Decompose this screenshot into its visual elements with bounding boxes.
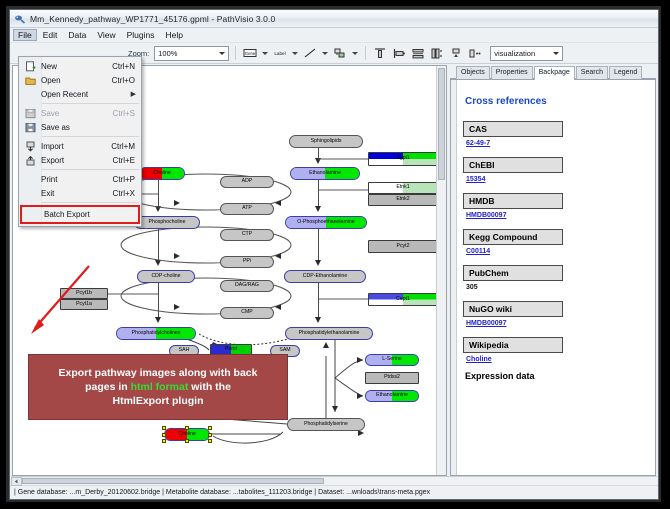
pathway-node-ophosphoethanolamine[interactable]: O-Phosphoethanolamine [285, 216, 367, 229]
pathway-node-etnk2[interactable]: Etnk2 [368, 194, 438, 206]
pathway-node-label: Ethanolamine [309, 171, 341, 176]
horizontal-scrollbar[interactable] [11, 476, 657, 485]
file-menu-item-export[interactable]: ExportCtrl+E [19, 153, 141, 167]
align-top-icon[interactable] [372, 45, 388, 61]
pathway-node-phosphatidylethanolamine[interactable]: Phosphatidylethanolamine [285, 327, 373, 340]
selection-handle[interactable] [185, 426, 189, 430]
common-width-icon[interactable] [429, 45, 445, 61]
expression-data-heading: Expression data [465, 371, 646, 381]
canvas-vscroll-thumb[interactable] [438, 68, 445, 180]
pathway-node-l-serine[interactable]: L-Serine [365, 354, 419, 366]
arrow-icon [357, 393, 363, 399]
pathway-node-etnk1[interactable]: Etnk1 [368, 182, 438, 194]
pathway-node-cdp-ethanolamine[interactable]: CDP-Ethanolamine [284, 270, 366, 283]
hscroll-thumb[interactable] [22, 478, 324, 484]
selection-handle[interactable] [208, 433, 212, 437]
selection-handle[interactable] [208, 439, 212, 443]
pathway-node-label: SAM [279, 348, 290, 353]
arrow-icon [323, 342, 329, 348]
xref-entry: WikipediaCholine [463, 335, 646, 363]
file-menu-item-shortcut: Ctrl+E [113, 156, 141, 165]
callout-highlight: html format [131, 381, 189, 393]
xref-entry: NuGO wikiHMDB00097 [463, 299, 646, 327]
file-menu-item-open-recent[interactable]: Open Recent▶ [19, 87, 141, 101]
svg-text:Gene: Gene [245, 51, 256, 56]
xref-value: Choline [466, 356, 646, 363]
interaction-dropdown-icon[interactable] [351, 46, 359, 60]
arrow-icon [357, 357, 363, 363]
xref-link[interactable]: C00114 [466, 248, 490, 255]
file-menu-item-label: Open Recent [41, 90, 131, 99]
pathway-node-phosphatidylserine[interactable]: Phosphatidylserine [287, 418, 365, 431]
arrow-icon [275, 304, 281, 310]
xref-database-label: Kegg Compound [463, 229, 563, 245]
pathway-node-ethanolamine-mid[interactable]: Ethanolamine [365, 390, 419, 402]
align-left-icon[interactable] [391, 45, 407, 61]
chevron-down-icon[interactable] [216, 47, 227, 60]
pathway-node-label: Ptdss2 [384, 375, 400, 380]
xref-entry: HMDBHMDB00097 [463, 191, 646, 219]
selection-handle[interactable] [162, 439, 166, 443]
xref-value: C00114 [466, 248, 646, 255]
tab-properties[interactable]: Properties [491, 66, 533, 79]
file-menu-separator [42, 169, 139, 170]
file-menu-item-label: Batch Export [44, 210, 132, 219]
file-menu-item-shortcut: Ctrl+S [113, 109, 141, 118]
pathway-node-label: L-Serine [382, 357, 402, 362]
pathway-node-label: Phosphatidylserine [304, 422, 348, 427]
line-dropdown-icon[interactable] [321, 46, 329, 60]
selection-handle[interactable] [185, 439, 189, 443]
file-menu-separator [42, 103, 139, 104]
pathway-node-label: CDP-Ethanolamine [303, 274, 347, 279]
xref-database-label: HMDB [463, 193, 563, 209]
pathway-node-label: Cept1 [396, 297, 410, 302]
selection-handle[interactable] [162, 426, 166, 430]
cross-references-list: CAS62-49-7ChEBI15354HMDBHMDB00097Kegg Co… [463, 119, 646, 363]
tab-legend[interactable]: Legend [609, 66, 642, 79]
file-menu-item-label: Print [41, 175, 113, 184]
import-icon [19, 141, 41, 152]
xref-database-label: CAS [463, 121, 563, 137]
pathvisio-icon [14, 13, 26, 25]
file-menu-item-exit[interactable]: ExitCtrl+X [19, 186, 141, 200]
xref-value: 62-49-7 [466, 140, 646, 147]
tab-backpage[interactable]: Backpage [534, 66, 575, 80]
file-menu-item-shortcut: Ctrl+M [111, 142, 141, 151]
pathway-node-label: O-Phosphoethanolamine [297, 220, 354, 225]
label-tool-icon[interactable]: Label [272, 45, 288, 61]
export-icon [19, 155, 41, 166]
menu-file[interactable]: File [13, 29, 37, 41]
pathway-node-label: Sphingolipids [311, 139, 342, 144]
pathway-node-label: Phosphatidylethanolamine [299, 331, 360, 336]
arrow-icon [275, 200, 281, 206]
sidebar-tabstrip: Objects Properties Backpage Search Legen… [450, 65, 656, 79]
annotation-callout: Export pathway images along with back pa… [28, 354, 288, 420]
xref-entry: PubChem305 [463, 263, 646, 291]
xref-link[interactable]: Choline [466, 356, 492, 363]
pathway-node-sphingolipids[interactable]: Sphingolipids [289, 135, 363, 148]
xref-link[interactable]: 62-49-7 [466, 140, 490, 147]
visualization-chevron-down-icon[interactable] [550, 47, 561, 60]
title-bar: Mm_Kennedy_pathway_WP1771_45176.gpml - P… [10, 10, 658, 28]
xref-link[interactable]: 15354 [466, 176, 485, 183]
screenshot-root: Mm_Kennedy_pathway_WP1771_45176.gpml - P… [0, 0, 670, 509]
xref-entry: CAS62-49-7 [463, 119, 646, 147]
zoom-combo[interactable]: 100% [154, 46, 229, 61]
file-menu-item-shortcut: Ctrl+N [112, 62, 141, 71]
submenu-chevron-right-icon: ▶ [131, 90, 141, 98]
visualization-value: visualization [494, 49, 535, 58]
datanode-dropdown-icon[interactable] [261, 46, 269, 60]
xref-link[interactable]: HMDB00097 [466, 212, 506, 219]
status-bar: | Gene database: ...m_Derby_20120602.bri… [10, 485, 658, 499]
group-icon[interactable] [467, 45, 483, 61]
callout-line-3: HtmlExport plugin [113, 394, 204, 408]
hscroll-left-arrow-icon[interactable] [11, 477, 22, 486]
xref-value: 15354 [466, 176, 646, 183]
xref-database-label: PubChem [463, 265, 563, 281]
file-menu-item-shortcut: Ctrl+O [112, 76, 141, 85]
svg-text:Label: Label [275, 51, 286, 56]
file-menu-item-shortcut: Ctrl+P [113, 175, 141, 184]
menu-bar: File Edit Data View Plugins Help [10, 28, 658, 43]
file-menu-item-label: Exit [41, 189, 113, 198]
backpage-panel: Cross references CAS62-49-7ChEBI15354HMD… [450, 79, 656, 476]
callout-line-2-a: pages in [85, 381, 131, 393]
callout-line-1: Export pathway images along with back [59, 366, 258, 380]
zoom-value: 100% [158, 49, 177, 58]
interaction-tool-icon[interactable] [332, 45, 348, 61]
pathway-node-label: Etnk1 [396, 185, 409, 190]
xref-entry: ChEBI15354 [463, 155, 646, 183]
stack-center-icon[interactable] [448, 45, 464, 61]
file-menu-item-shortcut: Ctrl+X [113, 189, 141, 198]
selection-handle[interactable] [208, 426, 212, 430]
pathway-node-pcyt2[interactable]: Pcyt2 [368, 240, 438, 253]
menu-edit[interactable]: Edit [38, 29, 63, 41]
sidebar-gutter [451, 80, 457, 475]
file-menu-item-label: Save as [41, 123, 135, 132]
pathway-node-label: Ethanolamine [376, 393, 408, 398]
callout-line-2-b: with the [188, 381, 231, 393]
file-menu-item-label: Open [41, 76, 112, 85]
label-dropdown-icon[interactable] [291, 46, 299, 60]
menu-view[interactable]: View [92, 29, 120, 41]
xref-entry: Kegg CompoundC00114 [463, 227, 646, 255]
file-menu-separator [42, 136, 139, 137]
save-icon [19, 108, 41, 119]
datanode-tool-icon[interactable]: Gene [242, 45, 258, 61]
xref-database-label: NuGO wiki [463, 301, 563, 317]
file-menu-separator [42, 202, 139, 203]
line-tool-icon[interactable] [302, 45, 318, 61]
file-menu-item-print[interactable]: PrintCtrl+P [19, 172, 141, 186]
file-menu-item-import[interactable]: ImportCtrl+M [19, 139, 141, 153]
file-menu-item-save: SaveCtrl+S [19, 106, 141, 120]
pathway-node-cept1[interactable]: Cept1 [368, 293, 438, 306]
sidebar: Objects Properties Backpage Search Legen… [450, 65, 656, 476]
file-menu-item-save-as[interactable]: Save as [19, 120, 141, 134]
file-menu-item-open[interactable]: OpenCtrl+O [19, 73, 141, 87]
file-menu-item-label: Import [41, 142, 111, 151]
arrow-icon [332, 406, 338, 412]
tab-objects[interactable]: Objects [456, 66, 490, 79]
pathway-node-label: Pcyt2 [397, 244, 410, 249]
distribute-vertical-icon[interactable] [410, 45, 426, 61]
xref-value: 305 [466, 284, 646, 291]
save-as-icon [19, 122, 41, 133]
xref-database-label: ChEBI [463, 157, 563, 173]
pathvisio-window: Mm_Kennedy_pathway_WP1771_45176.gpml - P… [9, 9, 659, 500]
visualization-combo[interactable]: visualization [490, 46, 563, 61]
pathway-node-sgpl1[interactable]: Sgpl1 [368, 152, 438, 166]
menu-help[interactable]: Help [161, 29, 188, 41]
xref-value: HMDB00097 [466, 212, 646, 219]
status-text: | Gene database: ...m_Derby_20120602.bri… [14, 489, 430, 496]
pathway-node-ptdss2[interactable]: Ptdss2 [365, 372, 419, 384]
arrow-icon [275, 253, 281, 259]
file-menu-item-label: Save [41, 109, 113, 118]
file-menu-item-label: Export [41, 156, 113, 165]
pathway-node-label: Etnk2 [396, 197, 409, 202]
xref-value: HMDB00097 [466, 320, 646, 327]
tab-search[interactable]: Search [576, 66, 608, 79]
open-folder-icon [19, 75, 41, 86]
file-menu-item-label: New [41, 62, 112, 71]
canvas-vertical-scrollbar[interactable] [436, 66, 446, 475]
pathway-node-ethanolamine-top[interactable]: Ethanolamine [290, 167, 360, 180]
pathway-node-label: Sgpl1 [396, 156, 409, 161]
callout-line-2: pages in html format with the [85, 380, 231, 394]
cross-references-heading: Cross references [465, 96, 646, 107]
xref-database-label: Wikipedia [463, 337, 563, 353]
xref-link[interactable]: HMDB00097 [466, 320, 506, 327]
menu-plugins[interactable]: Plugins [122, 29, 160, 41]
file-menu-item-batch-export[interactable]: Batch Export [20, 205, 140, 224]
toolbar-separator-2 [365, 46, 366, 60]
file-menu-popup[interactable]: NewCtrl+NOpenCtrl+OOpen Recent▶SaveCtrl+… [18, 56, 142, 227]
menu-data[interactable]: Data [63, 29, 91, 41]
file-menu-item-new[interactable]: NewCtrl+N [19, 59, 141, 73]
toolbar-separator [235, 46, 236, 60]
selection-handle[interactable] [162, 433, 166, 437]
pathway-node-label: Choline [178, 432, 196, 437]
window-title: Mm_Kennedy_pathway_WP1771_45176.gpml - P… [30, 14, 275, 24]
new-file-icon [19, 61, 41, 72]
